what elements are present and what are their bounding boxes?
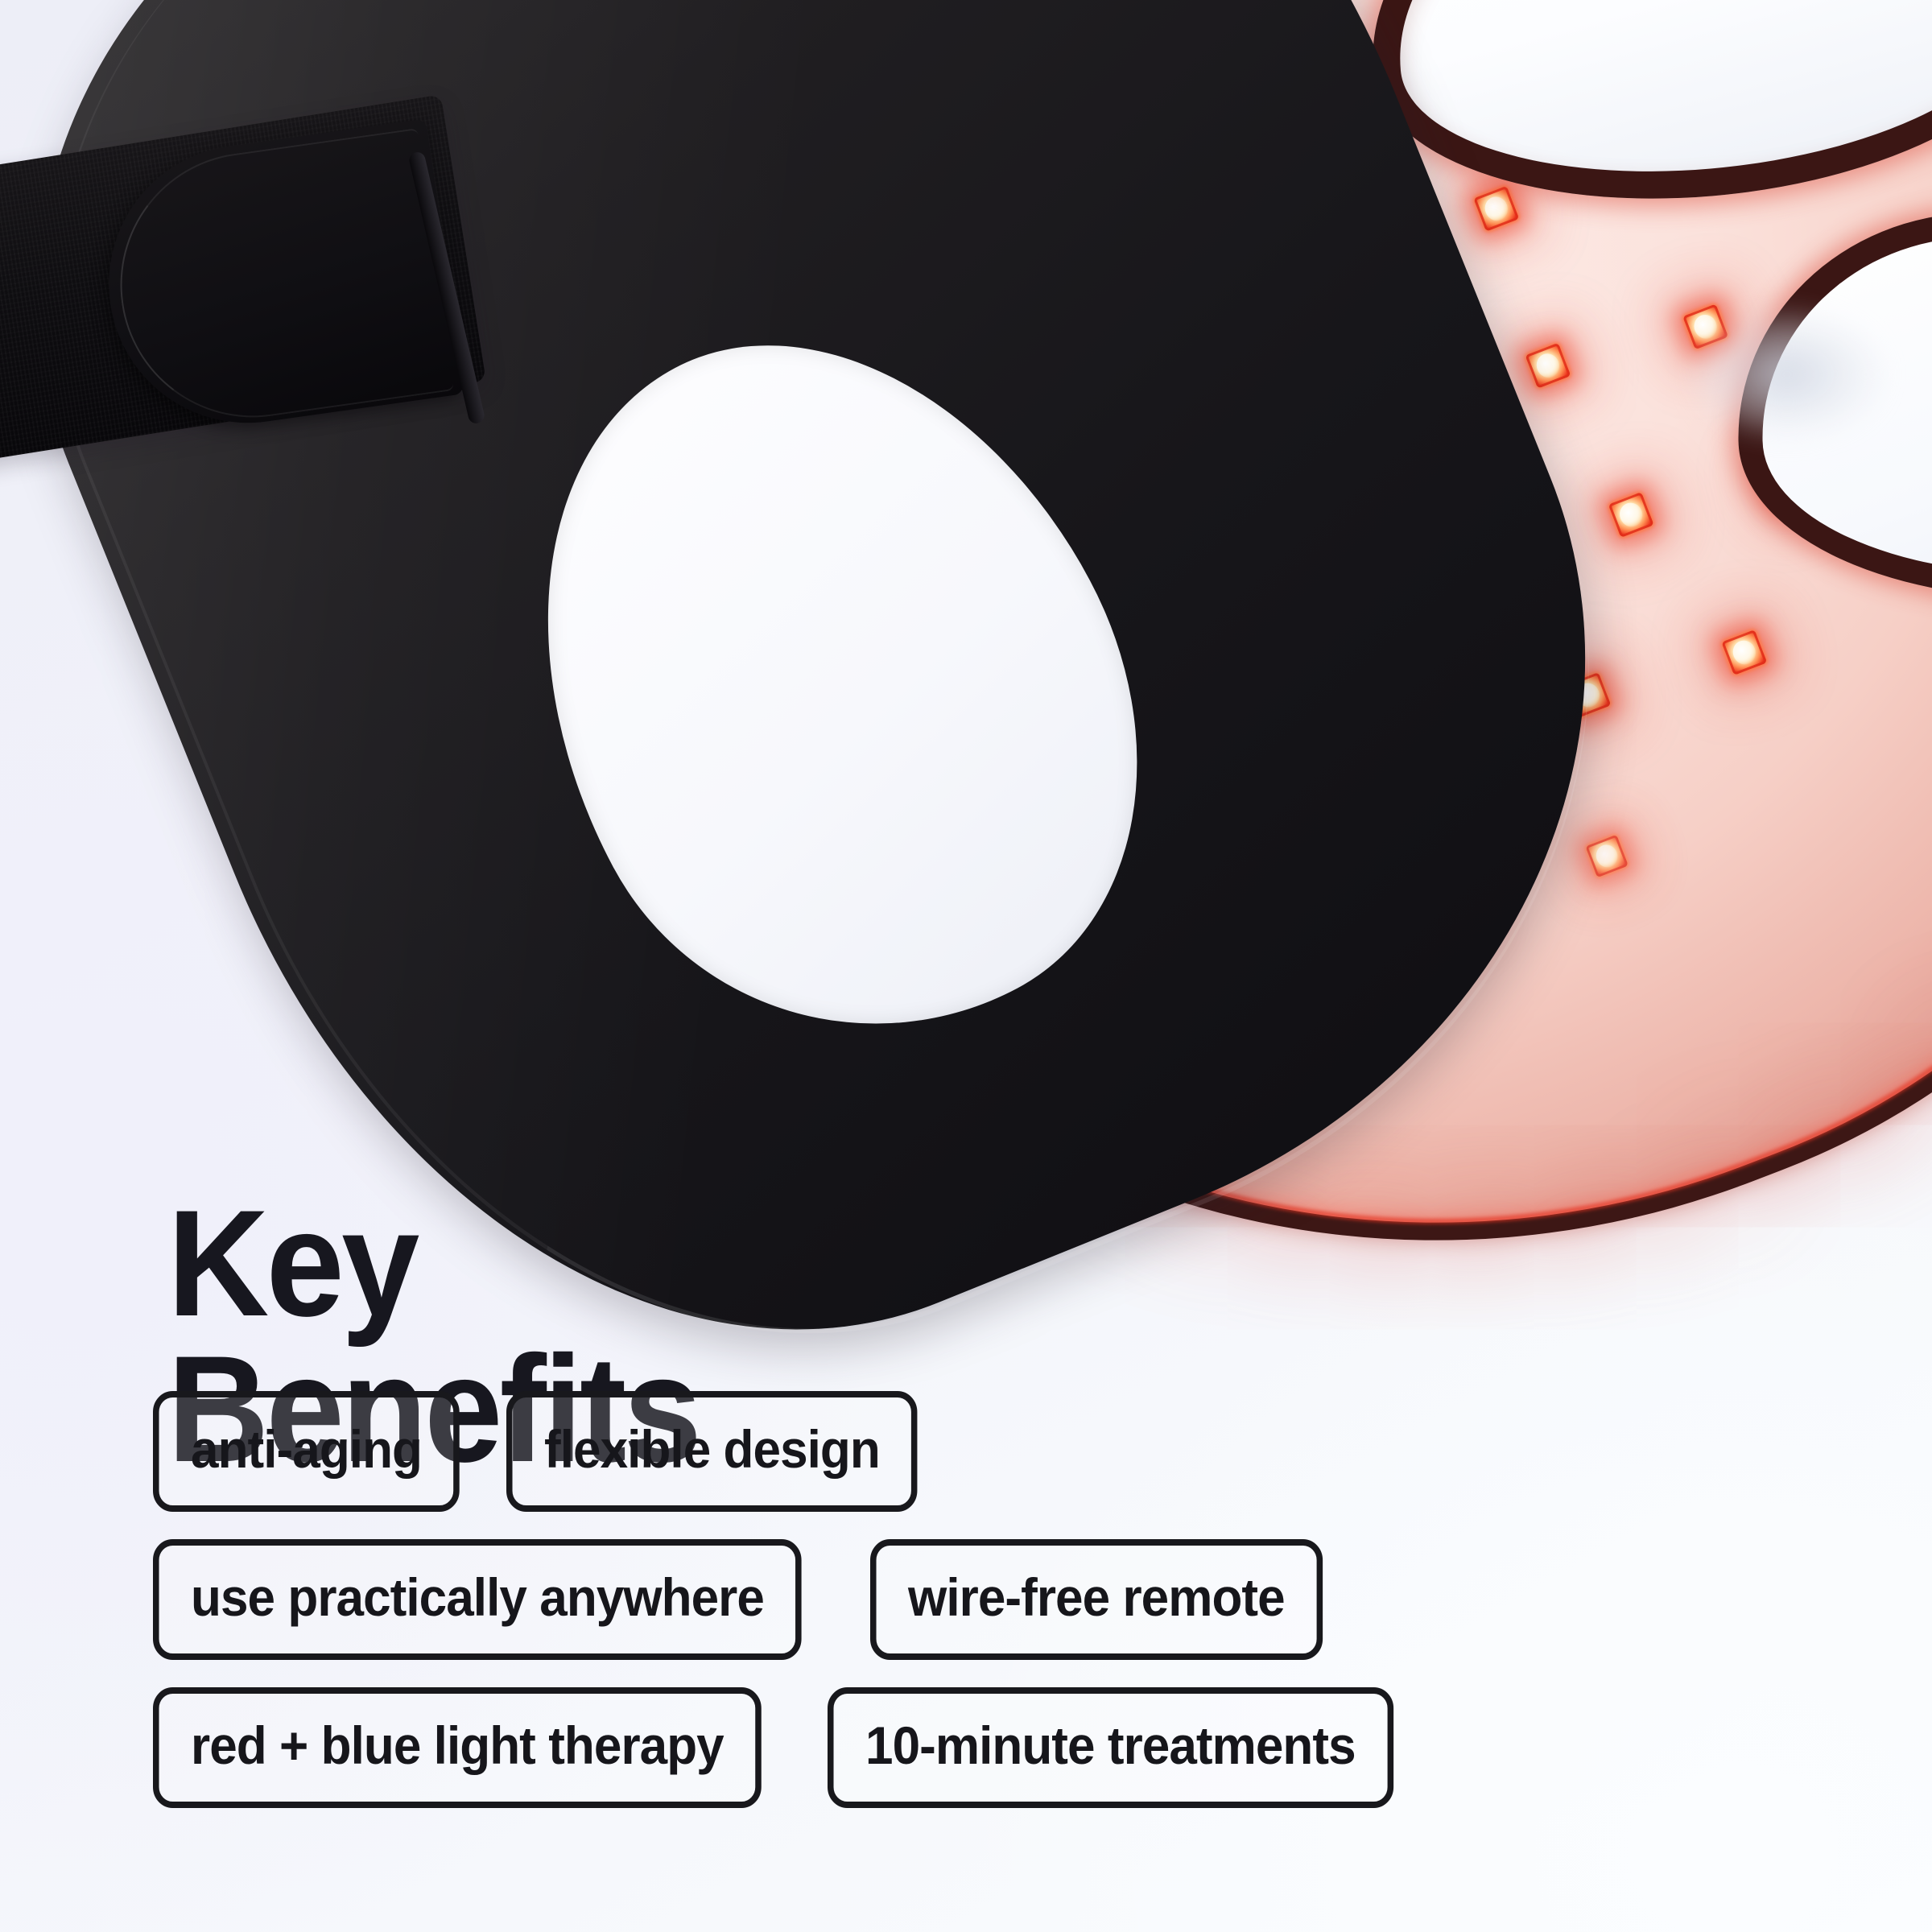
benefit-pill-flexible-design[interactable]: flexible design (506, 1391, 918, 1512)
benefit-row: use practically anywhere wire-free remot… (153, 1539, 1843, 1660)
led-chip (1585, 835, 1628, 877)
specular-highlight (1695, 314, 1880, 435)
benefit-pill-red-blue-light-therapy[interactable]: red + blue light therapy (153, 1687, 762, 1808)
led-chip (1721, 630, 1767, 675)
benefit-row: red + blue light therapy 10-minute treat… (153, 1687, 1843, 1808)
benefit-pill-10-minute-treatments[interactable]: 10-minute treatments (828, 1687, 1393, 1808)
led-chip (1608, 492, 1654, 538)
left-eye-cutout (420, 243, 1243, 1129)
benefit-pill-wire-free-remote[interactable]: wire-free remote (870, 1539, 1323, 1660)
poster-canvas: Key Benefits anti-aging flexible design … (0, 0, 1932, 1932)
right-eye-opening (1352, 0, 1932, 225)
benefit-pill-anti-aging[interactable]: anti-aging (153, 1391, 460, 1512)
benefit-row: anti-aging flexible design (153, 1391, 1843, 1512)
led-chip (1473, 186, 1519, 232)
benefits-section: Key Benefits anti-aging flexible design … (0, 1827, 1932, 1932)
led-chip (1525, 343, 1571, 389)
benefit-pill-list: anti-aging flexible design use practical… (153, 1391, 1843, 1835)
benefit-pill-use-practically-anywhere[interactable]: use practically anywhere (153, 1539, 802, 1660)
